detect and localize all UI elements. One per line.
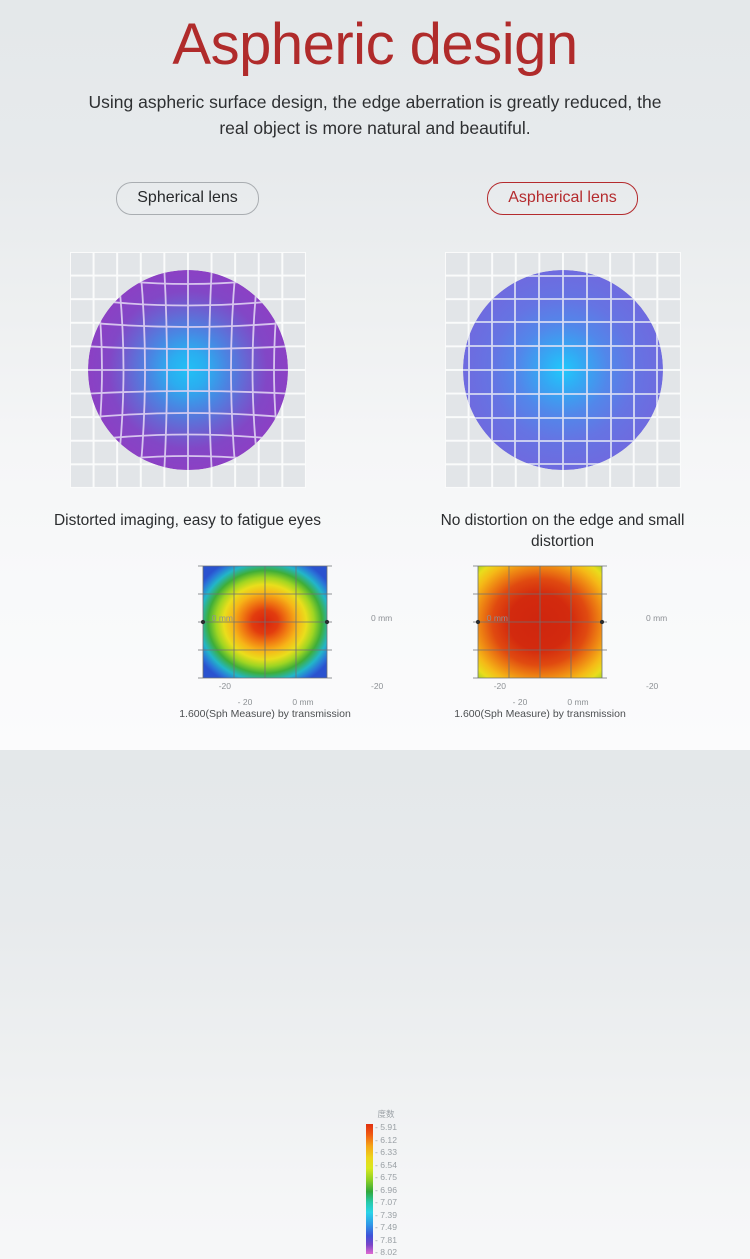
tab-aspherical-lens[interactable]: Aspherical lens bbox=[487, 182, 638, 215]
pill-cell-left: Spherical lens bbox=[0, 182, 375, 215]
pill-cell-right: Aspherical lens bbox=[375, 182, 750, 215]
spherical-y-tick-min-left: -20 bbox=[201, 682, 231, 691]
colorbar-tick: - 6.33 bbox=[375, 1146, 421, 1159]
aspherical-y-tick-min-left: -20 bbox=[476, 682, 506, 691]
aspherical-heatmap: 0 mm 0 mm -20 -20 - 20 0 mm bbox=[478, 566, 602, 678]
aspherical-lens-panel bbox=[445, 252, 681, 488]
colorbar-tick-list: - 5.91 - 6.12 - 6.33 - 6.54 - 6.75 - 6.9… bbox=[375, 1121, 421, 1259]
spherical-measurement-block: 0 mm 0 mm -20 -20 - 20 0 mm 1.600(Sph Me… bbox=[165, 556, 365, 736]
spherical-y-label-left: 0 mm bbox=[199, 614, 233, 623]
measurement-charts: 0 mm 0 mm -20 -20 - 20 0 mm 1.600(Sph Me… bbox=[0, 556, 750, 746]
spherical-measurement-caption: 1.600(Sph Measure) by transmission bbox=[155, 708, 375, 720]
spherical-lens-disc bbox=[88, 270, 288, 470]
aspherical-x-label: 0 mm bbox=[556, 698, 600, 707]
lens-cell-spherical bbox=[0, 252, 375, 488]
tab-spherical-lens[interactable]: Spherical lens bbox=[116, 182, 259, 215]
colorbar-tick: - 7.49 bbox=[375, 1221, 421, 1234]
lens-captions: Distorted imaging, easy to fatigue eyes … bbox=[0, 510, 750, 553]
colorbar-tick: - 7.81 bbox=[375, 1234, 421, 1247]
aspherical-y-tick-min-right: -20 bbox=[646, 682, 676, 691]
caption-aspherical: No distortion on the edge and small dist… bbox=[375, 510, 750, 553]
colorbar-tick: - 5.91 bbox=[375, 1121, 421, 1134]
aspherical-measurement-caption: 1.600(Sph Measure) by transmission bbox=[430, 708, 650, 720]
colorbar-tick: - 7.39 bbox=[375, 1209, 421, 1222]
colorbar-gradient bbox=[366, 1124, 373, 1254]
colorbar-tick: - 8.02 bbox=[375, 1246, 421, 1259]
lens-cell-aspherical bbox=[375, 252, 750, 488]
colorbar-tick: - 6.75 bbox=[375, 1171, 421, 1184]
aspherical-measurement-block: 0 mm 0 mm -20 -20 - 20 0 mm 1.600(Sph Me… bbox=[440, 556, 640, 736]
page-subtitle: Using aspheric surface design, the edge … bbox=[75, 89, 675, 142]
aspherical-y-label-right: 0 mm bbox=[646, 614, 680, 623]
colorbar-tick: - 6.12 bbox=[375, 1134, 421, 1147]
page-title: Aspheric design bbox=[0, 0, 750, 79]
aspherical-y-label-left: 0 mm bbox=[474, 614, 508, 623]
colorbar-tick: - 7.07 bbox=[375, 1196, 421, 1209]
lens-illustration-row bbox=[0, 252, 750, 488]
spherical-x-tick-min: - 20 bbox=[225, 698, 265, 707]
aspherical-x-tick-min: - 20 bbox=[500, 698, 540, 707]
aspherical-lens-disc bbox=[463, 270, 663, 470]
spherical-heatmap: 0 mm 0 mm -20 -20 - 20 0 mm bbox=[203, 566, 327, 678]
spherical-y-tick-min-right: -20 bbox=[371, 682, 401, 691]
colorbar-legend: 度数 - 5.91 - 6.12 - 6.33 - 6.54 - 6.75 - … bbox=[362, 1108, 422, 1258]
caption-spherical: Distorted imaging, easy to fatigue eyes bbox=[0, 510, 375, 553]
lens-type-tabs: Spherical lens Aspherical lens bbox=[0, 182, 750, 215]
colorbar-tick: - 6.96 bbox=[375, 1184, 421, 1197]
colorbar-tick: - 6.54 bbox=[375, 1159, 421, 1172]
colorbar-title: 度数 bbox=[366, 1108, 406, 1120]
spherical-lens-panel bbox=[70, 252, 306, 488]
spherical-x-label: 0 mm bbox=[281, 698, 325, 707]
spherical-y-label-right: 0 mm bbox=[371, 614, 405, 623]
